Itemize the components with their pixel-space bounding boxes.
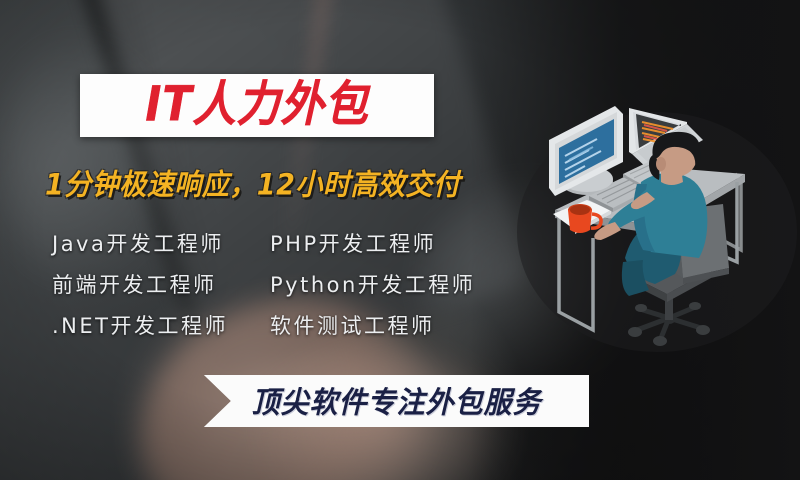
page-title: IT人力外包 xyxy=(145,81,368,129)
role-row: .NET开发工程师 软件测试工程师 xyxy=(52,304,482,345)
role-list: Java开发工程师 PHP开发工程师 前端开发工程师 Python开发工程师 .… xyxy=(52,222,482,345)
headline-band: IT人力外包 xyxy=(80,74,434,137)
promo-poster: IT人力外包 1分钟极速响应，12小时高效交付 Java开发工程师 PHP开发工… xyxy=(0,0,800,480)
role-row: Java开发工程师 PHP开发工程师 xyxy=(52,222,482,263)
developer-illustration xyxy=(497,62,797,362)
role-testing: 软件测试工程师 xyxy=(270,310,435,340)
ribbon-banner: 顶尖软件专注外包服务 xyxy=(204,375,589,427)
role-dotnet: .NET开发工程师 xyxy=(52,310,270,340)
role-python: Python开发工程师 xyxy=(270,269,475,299)
ribbon-label: 顶尖软件专注外包服务 xyxy=(251,380,541,422)
role-php: PHP开发工程师 xyxy=(270,228,436,258)
role-row: 前端开发工程师 Python开发工程师 xyxy=(52,263,482,304)
role-java: Java开发工程师 xyxy=(52,228,270,258)
role-frontend: 前端开发工程师 xyxy=(52,269,270,299)
subheadline: 1分钟极速响应，12小时高效交付 xyxy=(45,171,525,200)
